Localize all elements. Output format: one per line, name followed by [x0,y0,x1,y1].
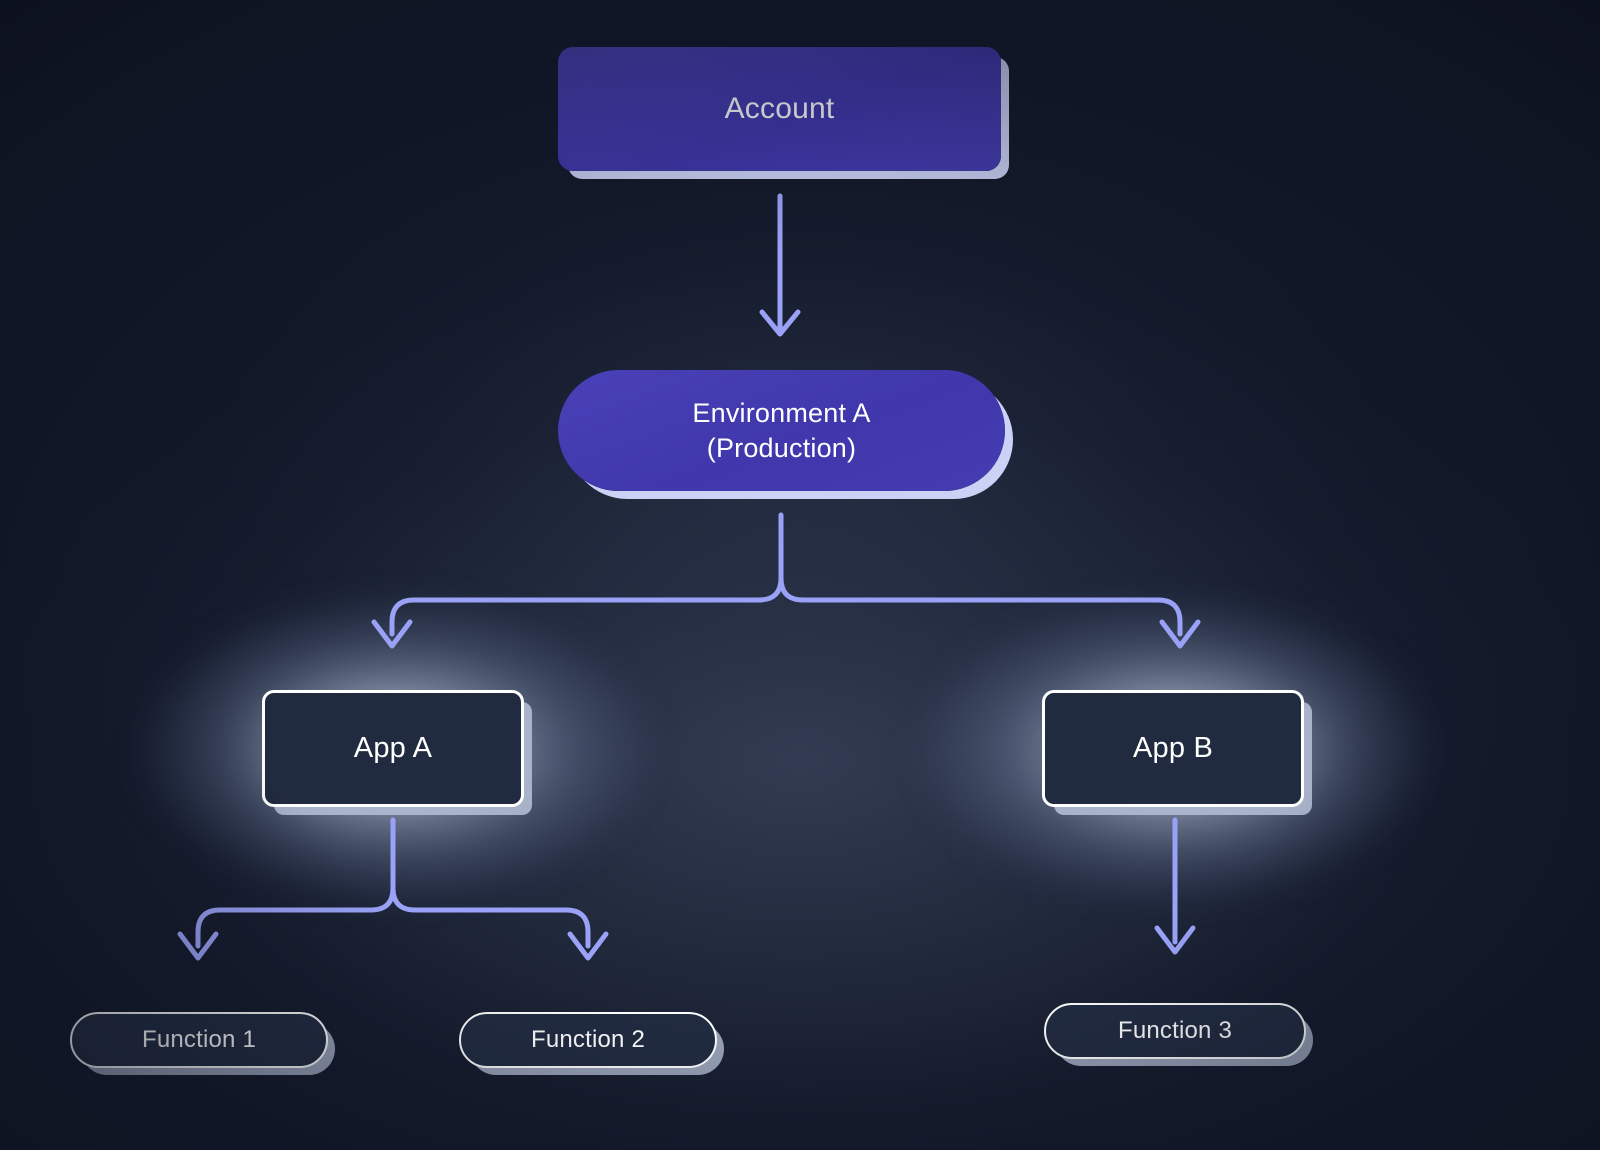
arrowhead-function-3 [1157,928,1193,952]
node-app-b[interactable]: App B [1042,690,1304,807]
node-account-label: Account [725,90,835,128]
node-environment[interactable]: Environment A (Production) [558,370,1005,491]
arrowhead-app-b [1162,622,1198,646]
node-environment-label: Environment A (Production) [692,396,870,464]
background-center-glow [0,0,1600,1150]
node-function-3-label: Function 3 [1118,1016,1232,1046]
node-account[interactable]: Account [558,47,1001,171]
node-app-a-label: App A [354,730,432,767]
edge-app-a-to-function-1 [198,820,393,946]
node-function-1-label: Function 1 [142,1025,256,1055]
arrowhead-function-2 [570,934,606,958]
node-function-1[interactable]: Function 1 [70,1012,328,1068]
edge-environment-to-app-a [392,515,781,634]
arrowhead-function-1 [180,934,216,958]
arrowhead-environment [762,312,798,334]
background-vignette [0,0,1600,1150]
edge-environment-to-app-b [781,578,1180,634]
edge-app-a-to-function-2 [393,888,588,946]
node-function-2-label: Function 2 [531,1025,645,1055]
node-function-3[interactable]: Function 3 [1044,1003,1306,1059]
diagram-canvas: Account Environment A (Production) App A… [0,0,1600,1150]
background-upper-glow [0,0,1600,1150]
node-app-b-label: App B [1133,730,1213,767]
arrowhead-app-a [374,622,410,646]
connector-layer [0,0,1600,1150]
node-function-2[interactable]: Function 2 [459,1012,717,1068]
node-app-a[interactable]: App A [262,690,524,807]
